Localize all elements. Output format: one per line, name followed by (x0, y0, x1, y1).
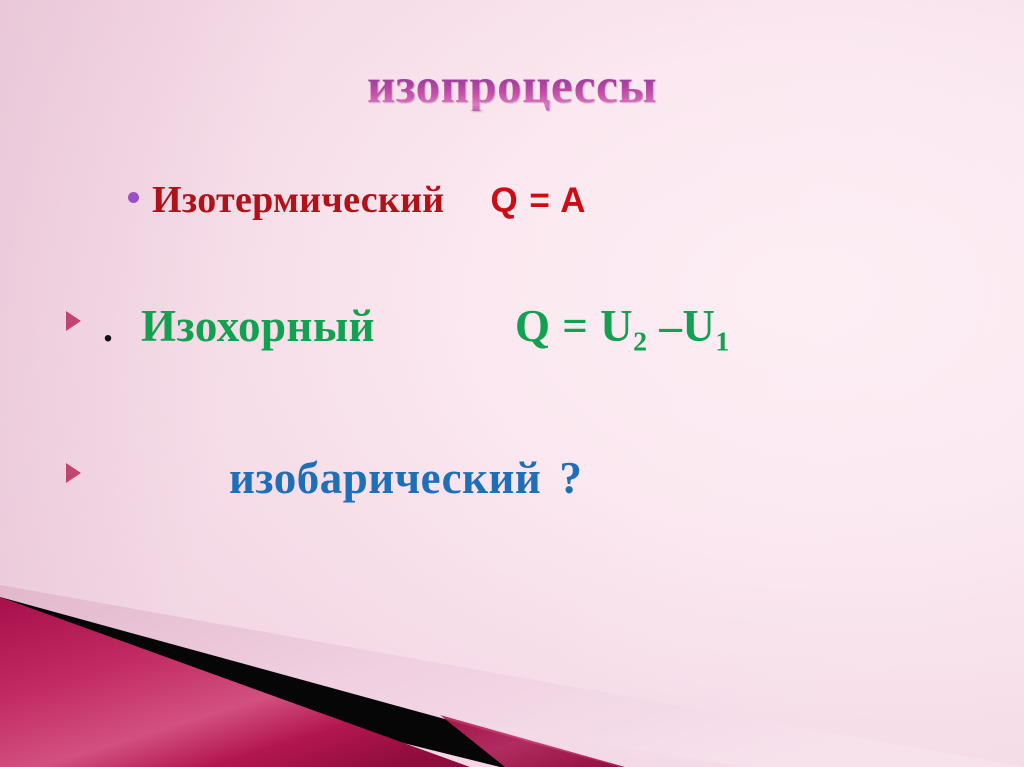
formula-isochoric-prefix: Q = U (515, 301, 633, 351)
bullet-row-isobaric: изобарический ? (66, 452, 582, 504)
formula-isochoric-sub1: 2 (633, 326, 647, 357)
process-name-isochoric: Изохорный (141, 300, 375, 352)
formula-isochoric: Q = U2 –U1 (515, 300, 730, 358)
formula-isothermal: Q = A (490, 181, 586, 221)
slide-canvas: изопроцессы Изотермический Q = A . Изохо… (0, 0, 1024, 767)
period-mark: . (103, 308, 113, 348)
dot-bullet-icon (128, 192, 139, 203)
question-mark: ? (559, 452, 582, 504)
page-title: изопроцессы (367, 60, 657, 111)
triangle-bullet-icon (66, 311, 81, 331)
background-sheen (0, 0, 1024, 767)
triangle-bullet-icon (66, 463, 81, 483)
formula-isochoric-mid: –U (648, 301, 716, 351)
corner-decoration (0, 547, 1024, 767)
bullet-row-isochoric: . Изохорный Q = U2 –U1 (66, 300, 730, 358)
slide-title-container: изопроцессы (0, 60, 1024, 111)
formula-isochoric-sub2: 1 (715, 326, 729, 357)
process-name-isothermal: Изотермический (152, 178, 444, 222)
bullet-row-isothermal: Изотермический Q = A (128, 178, 587, 222)
process-name-isobaric: изобарический (229, 452, 541, 504)
